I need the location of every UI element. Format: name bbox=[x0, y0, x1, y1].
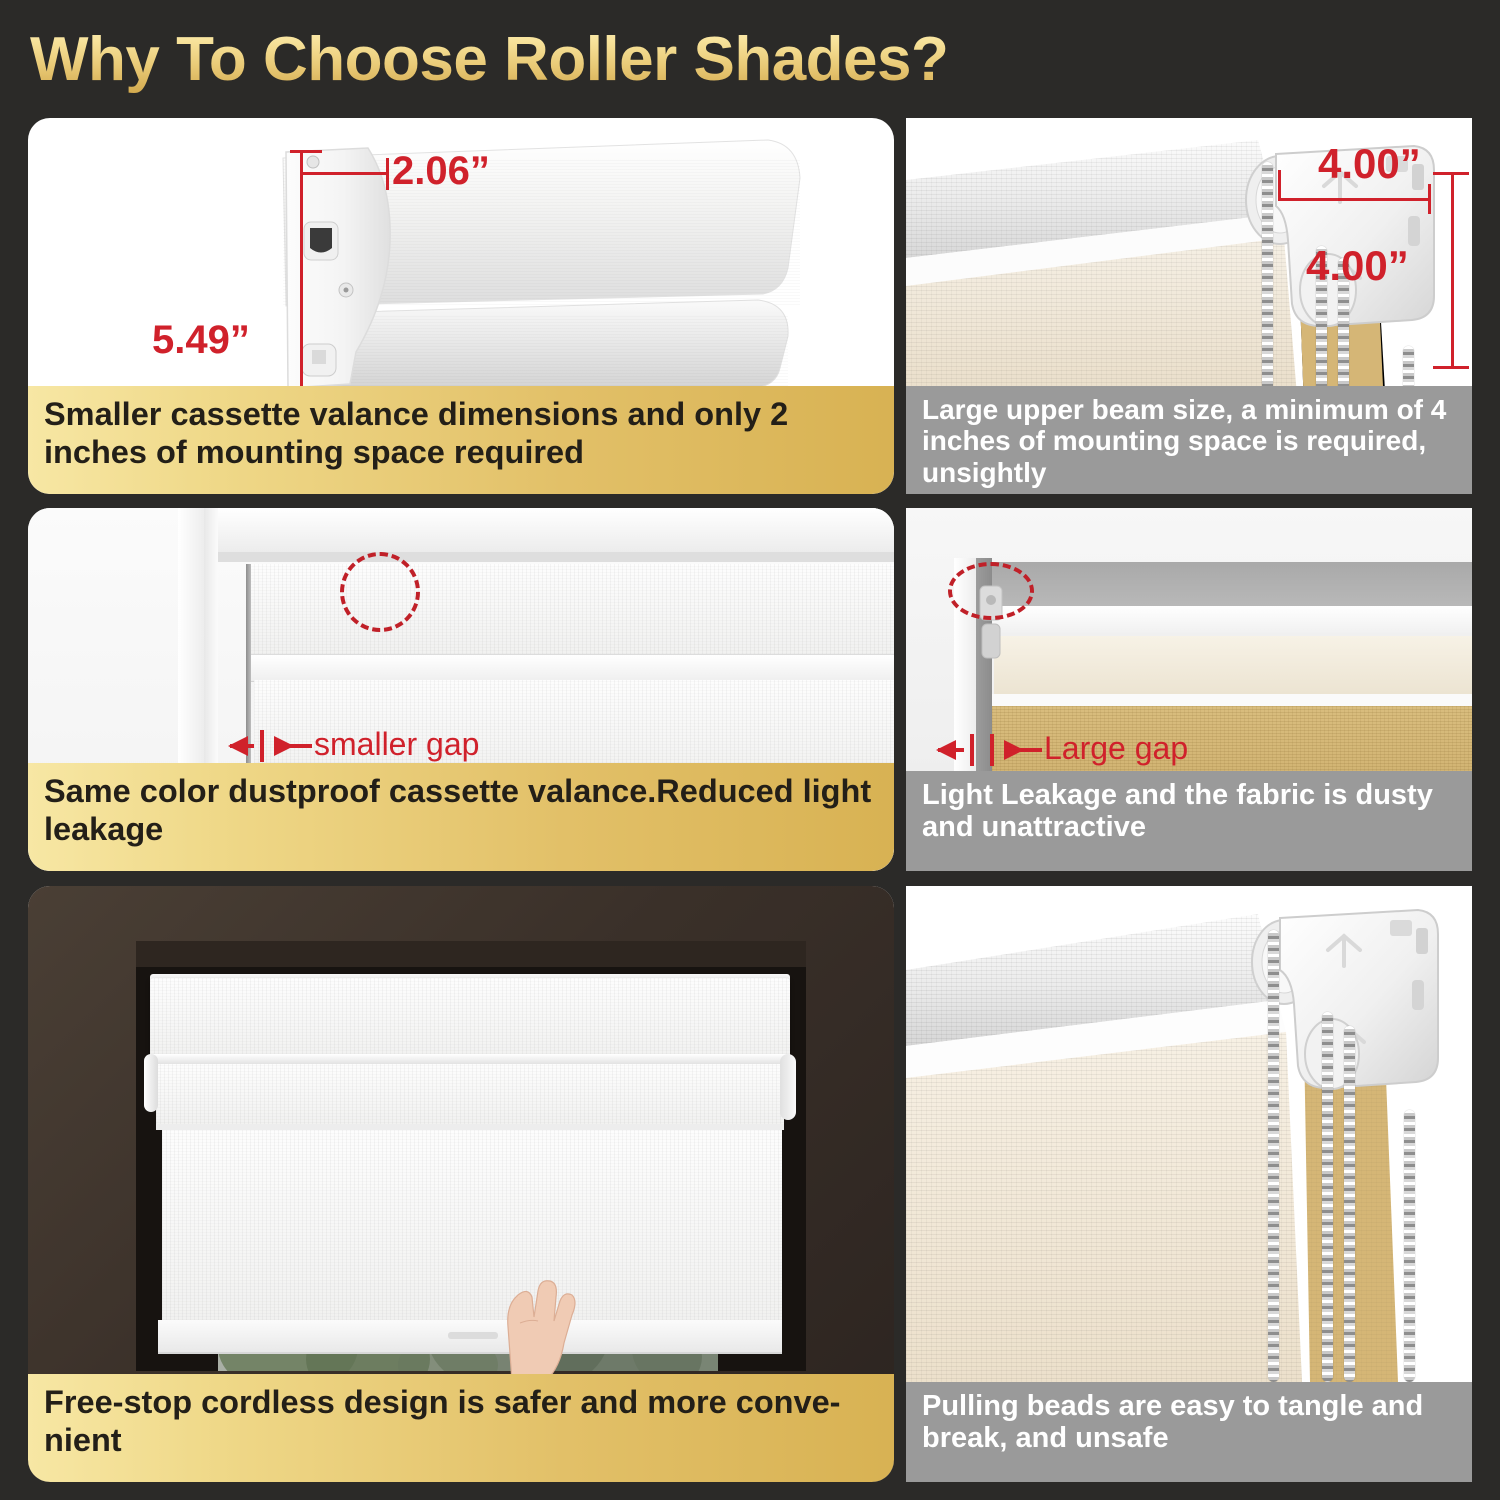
beam-width-label: 4.00” bbox=[1318, 140, 1421, 188]
beam-height-line bbox=[1451, 172, 1454, 368]
gap-callout-label: smaller gap bbox=[314, 726, 479, 763]
bead-chain-1 bbox=[1262, 162, 1273, 417]
beam-height-tick-top bbox=[1433, 172, 1469, 175]
gap-marker-line bbox=[260, 730, 264, 762]
bead-chain-2 bbox=[1322, 1012, 1333, 1382]
panel-bottom-left: Free-stop cordless design is safer and m… bbox=[28, 886, 894, 1482]
bead-chain-1 bbox=[1268, 930, 1279, 1382]
panel-top-left: 5.49” 2.06” Smaller cassette valance dim… bbox=[28, 118, 894, 494]
beam-width-tick-left bbox=[1278, 170, 1281, 200]
height-dimension-label: 5.49” bbox=[152, 318, 250, 363]
beam-width-tick-right bbox=[1428, 184, 1431, 214]
caption-top-left: Smaller cassette valance dimensions and … bbox=[28, 386, 894, 494]
caption-middle-left: Same color dustproof cassette valance.Re… bbox=[28, 763, 894, 871]
caption-middle-right: Light Leakage and the fabric is dusty an… bbox=[906, 771, 1472, 871]
gap-marker-line-b bbox=[990, 734, 994, 766]
width-dimension-line bbox=[300, 172, 388, 175]
width-dimension-label: 2.06” bbox=[392, 149, 490, 194]
panel-bottom-right: Pulling beads are easy to tangle and bre… bbox=[906, 886, 1472, 1482]
caption-bottom-left: Free-stop cordless design is safer and m… bbox=[28, 1374, 894, 1482]
shade-fabric-upper bbox=[156, 1064, 784, 1126]
beam-height-tick-bottom bbox=[1433, 366, 1469, 369]
gap-marker-line-a bbox=[970, 734, 974, 766]
gap-highlight-ellipse bbox=[948, 562, 1034, 620]
panel-middle-right: Large gap Light Leakage and the fabric i… bbox=[906, 508, 1472, 871]
beam-height-label: 4.00” bbox=[1306, 242, 1409, 290]
panel-top-right: 4.00” 4.00” Large upper beam size, a min… bbox=[906, 118, 1472, 494]
caption-bottom-right: Pulling beads are easy to tangle and bre… bbox=[906, 1382, 1472, 1482]
bead-chain-4 bbox=[1404, 1110, 1415, 1382]
comparison-grid: 5.49” 2.06” Smaller cassette valance dim… bbox=[0, 0, 1500, 1500]
beam-width-line bbox=[1278, 198, 1430, 201]
gap-highlight-circle bbox=[340, 552, 420, 632]
height-tick-top bbox=[290, 150, 322, 153]
bead-chain-3 bbox=[1344, 1026, 1355, 1382]
panel-middle-left: smaller gap Same color dustproof cassett… bbox=[28, 508, 894, 871]
width-tick-right bbox=[386, 158, 389, 190]
valance bbox=[150, 978, 790, 1060]
caption-top-right: Large upper beam size, a minimum of 4 in… bbox=[906, 386, 1472, 494]
gap-callout-label: Large gap bbox=[1044, 730, 1188, 767]
